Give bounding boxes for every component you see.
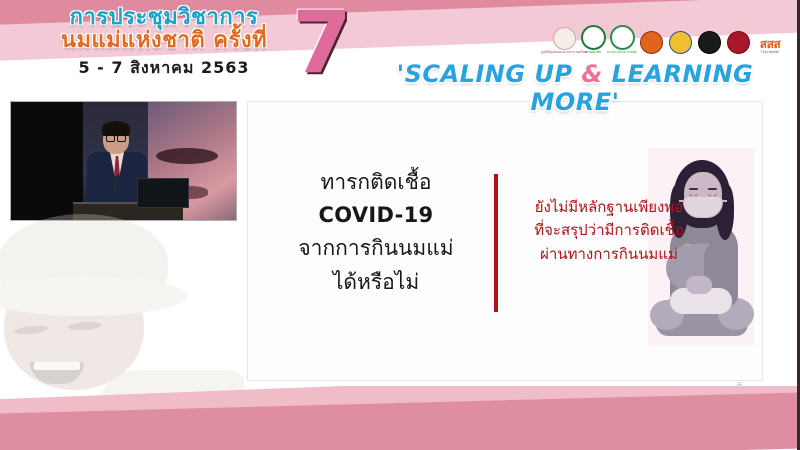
presentation-slide: การประชุมวิชาการ นมแม่แห่งชาติ ครั้งที่ …: [0, 0, 800, 450]
slogan-prefix: 'SCALING UP: [397, 60, 582, 88]
speaker-video-feed[interactable]: [10, 101, 237, 221]
conference-date: 5 - 7 สิงหาคม 2563: [24, 56, 304, 81]
thai-health-sss-logo: สสส Thai Health: [755, 24, 785, 54]
vertical-red-divider: [494, 174, 498, 312]
question-line-2: COVID-19: [262, 199, 490, 232]
royal-thai-government-logo: [668, 24, 692, 54]
ministry-of-public-health-logo: กรมอนามัย: [581, 24, 605, 54]
question-line-1: ทารกติดเชื้อ: [262, 166, 490, 199]
answer-text-block: ยังไม่มีหลักฐานเพียงพอ ที่จะสรุปว่ามีการ…: [504, 196, 714, 266]
background-baby-watermark-photo: [0, 214, 244, 410]
answer-line-1: ยังไม่มีหลักฐานเพียงพอ: [504, 196, 714, 219]
answer-line-2: ที่จะสรุปว่ามีการติดเชื้อ: [504, 219, 714, 242]
conference-title-line1: การประชุมวิชาการ: [24, 6, 304, 29]
answer-line-3: ผ่านทางการกินนมแม่: [504, 243, 714, 266]
logo-caption-2: กรมอนามัย: [585, 51, 601, 54]
partner-logo-row: มูลนิธิศูนย์นมแม่แห่งประเทศไทย กรมอนามัย…: [552, 24, 785, 54]
question-text-block: ทารกติดเชื้อ COVID-19 จากการกินนมแม่ ได้…: [262, 166, 490, 299]
sss-logo-subcaption: Thai Health: [761, 50, 779, 54]
conference-edition-number: 7: [292, 0, 352, 86]
illustration-brow-right: [708, 188, 717, 190]
glasses-icon: [106, 134, 126, 140]
national-institute-logo: [697, 24, 721, 54]
bottom-decorative-wedge: [0, 386, 800, 450]
video-laptop: [137, 178, 189, 208]
thai-breastfeeding-foundation-logo: มูลนิธิศูนย์นมแม่แห่งประเทศไทย: [552, 24, 576, 54]
conference-slogan: 'SCALING UP & LEARNING MORE': [360, 60, 790, 116]
department-of-health-logo: กระทรวงสาธารณสุข: [610, 24, 634, 54]
logo-caption-3: กระทรวงสาธารณสุข: [607, 51, 637, 54]
royal-college-logo: [726, 24, 750, 54]
royal-emblem-logo: [639, 24, 663, 54]
conference-title-block: การประชุมวิชาการ นมแม่แห่งชาติ ครั้งที่ …: [24, 6, 304, 81]
question-line-3: จากการกินนมแม่: [262, 232, 490, 265]
watermark-hat-brim: [0, 276, 188, 316]
slogan-ampersand: &: [581, 60, 602, 88]
question-line-4: ได้หรือไม่: [262, 266, 490, 299]
illustration-hand: [686, 276, 712, 294]
sss-logo-text: สสส: [760, 38, 780, 50]
conference-title-line2: นมแม่แห่งชาติ ครั้งที่: [24, 29, 304, 52]
watermark-teeth: [34, 362, 80, 370]
illustration-brow-left: [689, 188, 698, 190]
